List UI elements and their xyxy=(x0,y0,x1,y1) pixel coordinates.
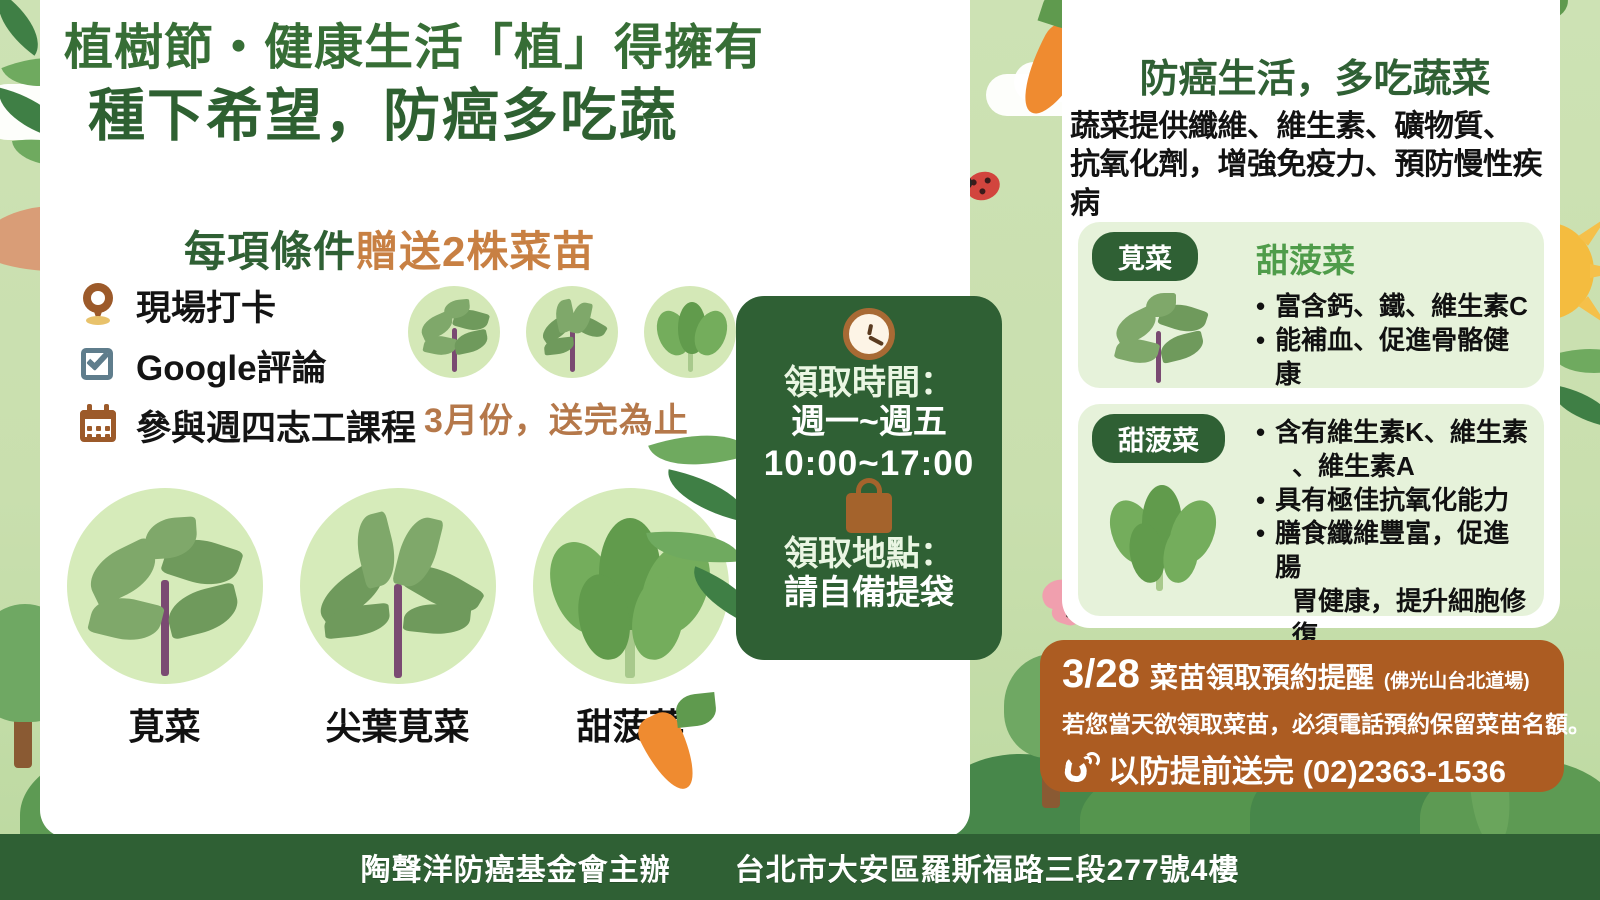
checkbox-icon xyxy=(78,343,118,387)
spinach-plant-icon xyxy=(533,488,729,684)
title-line-2: 種下希望，防癌多吃蔬 xyxy=(88,82,764,150)
condition-label: 現場打卡 xyxy=(136,280,276,331)
amaranth-plant-icon xyxy=(1106,285,1216,393)
vegetable-benefits-list: • 富含鈣、鐵、維生素C • 能補血、促進骨骼健康 xyxy=(1256,290,1530,391)
vegetable-label: 甜菠菜 xyxy=(576,698,684,750)
vegetable-item: 尖葉莧菜 xyxy=(295,488,500,750)
reservation-phone-row[interactable]: 以防提前送完 (02)2363-1536 xyxy=(1062,746,1546,791)
vegetable-card-heading: 甜菠菜 xyxy=(1256,234,1530,282)
reservation-date: 3/28 xyxy=(1062,652,1140,697)
subtitle-line-1: 蔬菜提供纖維、維生素、礦物質、 xyxy=(1070,108,1564,146)
vegetable-label: 莧菜 xyxy=(128,698,200,750)
conditions-list: 現場打卡 Google評論 參與週四志工課程 xyxy=(78,278,416,458)
bullet-icon: • xyxy=(1256,484,1265,518)
pickup-time-label: 領取時間： xyxy=(784,364,954,403)
reservation-headline: 3/28 菜苗領取預約提醒 (佛光山台北道場) xyxy=(1062,652,1546,697)
calendar-icon xyxy=(78,403,118,447)
benefit-text: 富含鈣、鐵、維生素C xyxy=(1275,290,1528,324)
benefit-item: • 具有極佳抗氧化能力 xyxy=(1256,484,1530,518)
footer-organizer: 陶聲洋防癌基金會主辦 xyxy=(361,845,671,889)
shopping-bag-icon xyxy=(846,493,892,533)
condition-label: 參與週四志工課程 xyxy=(136,400,416,451)
reservation-note: 若您當天欲領取菜苗，必須電話預約保留菜苗名額。 xyxy=(1062,705,1546,739)
benefit-text: 具有極佳抗氧化能力 xyxy=(1275,484,1509,518)
right-panel-subtitle: 蔬菜提供纖維、維生素、礦物質、 抗氧化劑，增強免疫力、預防慢性疾病 xyxy=(1070,108,1564,223)
vegetable-badge: 甜菠菜 xyxy=(1092,414,1225,463)
reservation-phone-text: 以防提前送完 (02)2363-1536 xyxy=(1108,746,1506,791)
location-pin-icon xyxy=(78,283,118,327)
phone-icon xyxy=(1062,752,1096,786)
amaranth-plant-icon xyxy=(67,488,263,684)
title-line-1: 植樹節・健康生活「植」得擁有 xyxy=(64,20,764,78)
benefit-text-cont: 、維生素A xyxy=(1256,450,1530,484)
spinach-plant-icon xyxy=(1106,471,1216,595)
benefit-item: • 能補血、促進骨骼健康 xyxy=(1256,324,1530,392)
pointed-amaranth-plant-icon xyxy=(300,488,496,684)
limit-note: 3月份，送完為止 xyxy=(424,393,689,442)
reservation-title: 菜苗領取預約提醒 xyxy=(1150,656,1374,696)
benefit-text: 能補血、促進骨骼健康 xyxy=(1275,324,1530,392)
reservation-box: 3/28 菜苗領取預約提醒 (佛光山台北道場) 若您當天欲領取菜苗，必須電話預約… xyxy=(1040,640,1564,792)
subtitle-line-2: 抗氧化劑，增強免疫力、預防慢性疾病 xyxy=(1070,146,1564,223)
vegetable-label: 尖葉莧菜 xyxy=(325,698,469,750)
vegetable-gallery: 莧菜 尖葉莧菜 甜菠菜 xyxy=(62,488,733,750)
pickup-info-box: 領取時間： 週一~週五 10:00~17:00 領取地點： 請自備提袋 xyxy=(736,296,1002,660)
condition-item-google-review[interactable]: Google評論 xyxy=(78,338,416,392)
benefit-text: 膳食纖維豐富，促進腸 xyxy=(1275,517,1530,585)
footer-bar: 陶聲洋防癌基金會主辦 台北市大安區羅斯福路三段277號4樓 xyxy=(0,834,1600,900)
right-panel-title: 防癌生活，多吃蔬菜 xyxy=(1085,48,1545,104)
benefit-item: • 膳食纖維豐富，促進腸 xyxy=(1256,517,1530,585)
clock-icon xyxy=(843,308,895,360)
condition-label: Google評論 xyxy=(136,340,327,391)
condition-item-volunteer-course[interactable]: 參與週四志工課程 xyxy=(78,398,416,452)
poster-stage: 植樹節・健康生活「植」得擁有 種下希望，防癌多吃蔬 每項條件贈送2株菜苗 現場打… xyxy=(0,0,1600,900)
offer-heading-condition: 每項條件 xyxy=(184,228,356,275)
vegetable-card-spinach: 甜菠菜 • 含有維生素K、維生素 、維生素A xyxy=(1078,404,1544,616)
pickup-time-days: 週一~週五 xyxy=(791,403,947,442)
bullet-icon: • xyxy=(1256,517,1265,551)
vegetable-item: 莧菜 xyxy=(62,488,267,750)
benefit-text: 含有維生素K、維生素 xyxy=(1275,416,1528,450)
poster-title: 植樹節・健康生活「植」得擁有 種下希望，防癌多吃蔬 xyxy=(64,20,764,150)
footer-address: 台北市大安區羅斯福路三段277號4樓 xyxy=(735,845,1240,889)
seedling-thumb-amaranth xyxy=(408,286,500,378)
pickup-place-label: 領取地點： xyxy=(784,535,954,574)
seedling-thumbnails xyxy=(408,286,736,378)
vegetable-item: 甜菠菜 xyxy=(528,488,733,750)
reservation-venue: (佛光山台北道場) xyxy=(1384,666,1530,693)
benefit-item: • 富含鈣、鐵、維生素C xyxy=(1256,290,1530,324)
seedling-thumb-pointed-amaranth xyxy=(526,286,618,378)
vegetable-benefits-list: • 含有維生素K、維生素 、維生素A • 具有極佳抗氧化能力 • 膳食纖維豐富，… xyxy=(1256,416,1530,653)
bullet-icon: • xyxy=(1256,416,1265,450)
benefit-item: • 含有維生素K、維生素 xyxy=(1256,416,1530,450)
pickup-place-value: 請自備提袋 xyxy=(784,574,954,613)
vegetable-card-amaranth: 莧菜 甜菠菜 • 富含鈣、鐵、維生素C xyxy=(1078,222,1544,388)
offer-heading: 每項條件贈送2株菜苗 xyxy=(184,218,595,279)
bullet-icon: • xyxy=(1256,290,1265,324)
offer-heading-gift: 贈送2株菜苗 xyxy=(356,228,595,275)
seedling-thumb-spinach xyxy=(644,286,736,378)
bullet-icon: • xyxy=(1256,324,1265,358)
condition-item-checkin[interactable]: 現場打卡 xyxy=(78,278,416,332)
vegetable-badge: 莧菜 xyxy=(1092,232,1198,281)
